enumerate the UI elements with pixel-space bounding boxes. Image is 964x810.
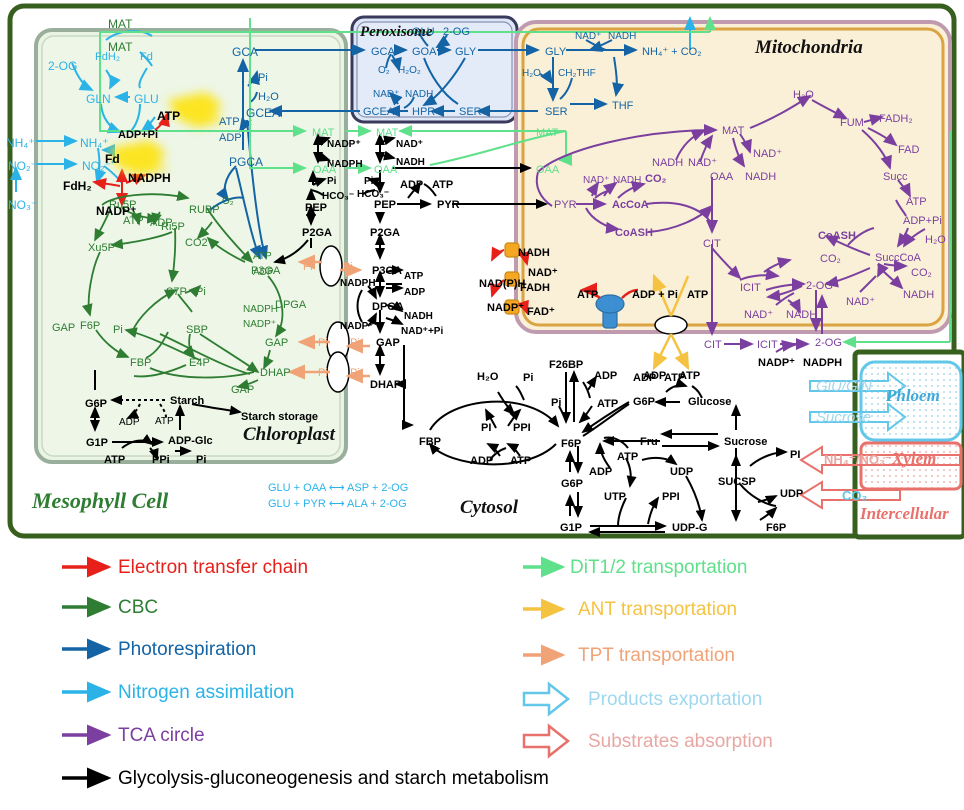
metabolite-mat: MAT: [722, 126, 744, 137]
metabolite-starch-storage: Starch storage: [241, 412, 318, 423]
legend-item-dit1-2-transportation: DiT1/2 transportation: [570, 558, 747, 577]
metabolite-dhap: DHAP: [260, 368, 291, 379]
metabolite-fbp: FBP: [419, 437, 441, 448]
metabolite-coash: CoASH: [615, 228, 653, 239]
metabolite-oaa: OAA: [710, 172, 733, 183]
metabolite-no: NO₃⁻: [8, 199, 37, 211]
metabolite-goa: GOA: [412, 47, 436, 58]
metabolite-ppi: PPI: [662, 492, 680, 503]
metabolite-g1p: G1P: [86, 438, 108, 449]
metabolite-atp: ATP: [104, 455, 125, 466]
metabolite-adp: ADP: [470, 456, 493, 467]
metabolite-atp: ATP: [679, 371, 700, 382]
metabolite-gca: GCA: [232, 46, 258, 58]
phloem-export-glu-gln: GlU/GlN: [816, 379, 872, 394]
metabolite-nh: NH₄⁺: [80, 137, 109, 149]
metabolite-pi: Pi: [196, 455, 206, 466]
metabolite-adp: ADP: [589, 467, 612, 478]
metabolite-udp: UDP: [670, 467, 693, 478]
metabolite-xu5p: Xu5P: [88, 243, 115, 254]
metabolite-pi: PI: [790, 450, 800, 461]
metabolite-p2ga: P2GA: [370, 228, 400, 239]
metabolite-pi: Pi: [113, 325, 123, 336]
metabolite-atp: ATP: [157, 110, 180, 122]
metabolite-gca: GCA: [371, 47, 395, 58]
metabolite-fd: Fd: [105, 153, 120, 165]
metabolite-succcoa: SuccCoA: [875, 253, 921, 264]
metabolite-no: NO₂⁻: [8, 160, 37, 172]
metabolite-utp: UTP: [604, 492, 626, 503]
phloem-export-sucrose: Sucrose: [816, 410, 871, 425]
metabolite-nad: NAD⁺: [373, 90, 399, 100]
metabolite-dpga: DPGA: [372, 302, 404, 313]
metabolite-gap: GAP: [376, 338, 400, 349]
metabolite-g6p: G6P: [85, 399, 107, 410]
metabolite-adp: ADP: [404, 288, 425, 298]
metabolite-atp: ATP: [253, 252, 272, 262]
metabolite-atp: ATP: [404, 272, 423, 282]
metabolite-adp-pi: ADP + Pi: [632, 290, 678, 301]
metabolite-adp: ADP: [119, 418, 140, 428]
metabolite-atp: ATP: [906, 197, 927, 208]
transamination-note-2: GLU + PYR ⟷ ALA + 2-OG: [268, 499, 407, 510]
compartment-label-intercellular: Intercellular: [860, 505, 949, 522]
metabolite-nad-pi: NAD⁺+Pi: [401, 327, 443, 337]
metabolite-mat: MAT: [108, 18, 132, 30]
metabolite-p2ga: P2GA: [302, 228, 332, 239]
metabolite-adp: ADP: [253, 268, 274, 278]
metabolite-gly: GLY: [545, 47, 566, 58]
metabolite-adp: ADP: [643, 371, 666, 382]
metabolite-co2: CO2: [185, 238, 208, 249]
metabolite-gap: GAP: [52, 323, 75, 334]
metabolite-sucsp: SUCSP: [718, 477, 756, 488]
metabolite-nadp: NADP⁺: [327, 140, 361, 150]
metabolite-atp: ATP: [687, 290, 708, 301]
metabolite-ru5p: Ru5P: [109, 200, 137, 211]
intercellular-co2-label: CO₂: [842, 489, 867, 502]
metabolite-h-o: H₂O₂: [398, 66, 421, 76]
metabolite-nad-p-h: NAD(P)H: [479, 279, 525, 290]
metabolite-pi: Pi: [364, 177, 373, 187]
metabolite-pep: PEP: [305, 203, 327, 214]
metabolite-gcea: GCEA: [246, 107, 280, 119]
metabolite-dhap: DHAP: [370, 380, 401, 391]
metabolite-ser: SER: [545, 107, 568, 118]
metabolite-rubp: RUBP: [189, 205, 220, 216]
metabolite-nadh: NADH: [405, 90, 433, 100]
pathway-diagram-stage: Chloroplast Peroxisome Mitochondria Cyto…: [0, 0, 964, 810]
metabolite-adp-pi: ADP+Pi: [903, 216, 942, 227]
metabolite-nadph: NADPH: [243, 305, 278, 315]
metabolite-sucrose: Sucrose: [724, 437, 767, 448]
metabolite-ri5p: Ri5P: [161, 222, 185, 233]
metabolite-f26bp: F26BP: [549, 360, 583, 371]
metabolite-adp: ADP: [219, 133, 242, 144]
metabolite-p3ga: P3GA: [372, 266, 402, 277]
metabolite-atp: ATP: [510, 456, 531, 467]
compartment-label-phloem: Phloem: [886, 387, 940, 404]
metabolite-nadh: NADH: [404, 312, 433, 322]
metabolite-mat: MAT: [108, 41, 132, 53]
metabolite-h-o: H₂O: [522, 69, 541, 79]
metabolite-nad: NAD⁺: [396, 140, 423, 150]
transamination-note-1: GLU + OAA ⟷ ASP + 2-OG: [268, 483, 408, 494]
metabolite-nadh: NADH: [608, 32, 636, 42]
metabolite-oaa: OAA: [536, 165, 559, 176]
metabolite-succ: Succ: [883, 172, 907, 183]
legend-item-cbc: CBC: [118, 598, 158, 617]
metabolite-nad: NAD⁺: [744, 310, 773, 321]
metabolite-nadh: NADH: [396, 158, 425, 168]
metabolite-ppi: PPI: [513, 423, 531, 434]
metabolite-pi: Pi: [551, 398, 561, 409]
metabolite-ch-thf: CH₂THF: [558, 69, 596, 79]
metabolite-nad: NAD⁺: [575, 32, 601, 42]
metabolite-ser: SER: [459, 107, 482, 118]
metabolite-nad: NAD⁺: [753, 149, 782, 160]
legend-item-glycolysis-gluconeogenesis-and-starch-metabolism: Glycolysis-gluconeogenesis and starch me…: [118, 769, 549, 788]
metabolite-nadh: NADH: [652, 158, 683, 169]
metabolite-fd: Fd: [140, 52, 153, 63]
metabolite-pyr: PYR: [437, 200, 460, 211]
metabolite-gap: GAP: [265, 338, 288, 349]
metabolite-accoa: AcCoA: [612, 200, 649, 211]
metabolite-g1p: G1P: [560, 523, 582, 534]
metabolite-nad: NAD⁺: [583, 176, 609, 186]
metabolite-f6p: F6P: [766, 523, 786, 534]
metabolite-2-og: 2-OG: [806, 281, 833, 292]
metabolite-2-og: 2-OG: [48, 60, 77, 72]
compartment-label-mitochondria: Mitochondria: [755, 38, 863, 57]
metabolite-nadp: NADP⁺: [758, 358, 795, 369]
metabolite-2-og: 2-OG: [815, 338, 842, 349]
metabolite-atp: ATP: [617, 452, 638, 463]
legend-item-photorespiration: Photorespiration: [118, 640, 256, 659]
compartment-label-mesophyll: Mesophyll Cell: [32, 490, 168, 512]
metabolite-pi: Pi: [318, 368, 328, 379]
metabolite-nadh: NADH: [745, 172, 776, 183]
legend-item-tca-circle: TCA circle: [118, 726, 205, 745]
metabolite-f6p: F6P: [80, 321, 100, 332]
metabolite-glu: GLU: [412, 27, 435, 38]
metabolite-nadp: NADP⁺: [243, 320, 276, 330]
metabolite-co: CO₂: [645, 174, 666, 185]
metabolite-h-o: H₂O: [925, 235, 946, 246]
metabolite-nadh: NADH: [518, 248, 550, 259]
metabolite-nadph: NADPH: [340, 279, 376, 289]
metabolite-thf: THF: [612, 101, 633, 112]
metabolite-ppi: PPi: [152, 455, 170, 466]
metabolite-fadh: FADH₂: [879, 114, 913, 125]
metabolite-co: CO₂: [820, 254, 841, 265]
metabolite-dpga: DPGA: [275, 300, 306, 311]
metabolite-pep: PEP: [374, 200, 396, 211]
compartment-label-xylem: Xylem: [892, 450, 936, 467]
metabolite-nadph: NADPH: [128, 172, 171, 184]
metabolite-starch: Starch: [170, 396, 204, 407]
metabolite-adp-pi: ADP+Pi: [118, 130, 158, 141]
legend-item-tpt-transportation: TPT transportation: [578, 646, 735, 665]
metabolite-nadh: NADH: [786, 310, 817, 321]
metabolite-o: O₂: [378, 66, 390, 76]
metabolite-nad: NAD⁺: [528, 268, 558, 279]
metabolite-g6p: G6P: [633, 397, 655, 408]
metabolite-2-og: 2-OG: [443, 27, 470, 38]
metabolite-h-o: H₂O: [258, 92, 279, 103]
metabolite-atp: ATP: [219, 117, 240, 128]
metabolite-pi: Pi: [327, 177, 336, 187]
legend-item-electron-transfer-chain: Electron transfer chain: [118, 558, 308, 577]
metabolite-h-o: H₂O: [477, 372, 498, 383]
compartment-label-chloroplast: Chloroplast: [243, 425, 335, 444]
compartment-label-cytosol: Cytosol: [460, 498, 518, 517]
metabolite-atp: ATP: [155, 417, 174, 427]
metabolite-g6p: G6P: [561, 479, 583, 490]
metabolite-nadp: NADP⁺: [487, 303, 524, 314]
metabolite-hco: HCO₃⁻: [322, 192, 354, 202]
metabolite-coash: CoASH: [818, 231, 856, 242]
metabolite-pi: Pi: [258, 73, 268, 84]
metabolite-atp: ATP: [577, 290, 598, 301]
xylem-import-label: NH₄⁺/NO₃⁻: [824, 453, 892, 466]
metabolite-nh: NH₄⁺: [6, 137, 35, 149]
legend-item-nitrogen-assimilation: Nitrogen assimilation: [118, 683, 294, 702]
metabolite-atp: ATP: [123, 216, 144, 227]
metabolite-pi: Pi: [196, 287, 206, 298]
metabolite-pi: Pi: [350, 338, 360, 349]
metabolite-sbp: SBP: [186, 325, 208, 336]
metabolite-atp: ATP: [597, 399, 618, 410]
metabolite-nad: NAD⁺: [688, 158, 717, 169]
metabolite-atp: ATP: [432, 180, 453, 191]
metabolite-mat: MAT: [312, 128, 334, 139]
metabolite-fad: FAD: [898, 145, 919, 156]
legend-item-substrates-absorption: Substrates absorption: [588, 732, 773, 751]
metabolite-mat: MAT: [376, 128, 398, 139]
metabolite-nadph: NADPH: [803, 358, 842, 369]
metabolite-fum: FUM: [840, 118, 864, 129]
metabolite-gcea: GCEA: [363, 107, 394, 118]
metabolite-o: O₂: [222, 197, 234, 207]
metabolite-h-o: H₂O: [793, 90, 814, 101]
metabolite-fadh: FADH: [520, 283, 550, 294]
metabolite-adp-glc: ADP-Glc: [168, 436, 213, 447]
metabolite-pi: Pi: [343, 262, 353, 273]
metabolite-oaa: OAA: [374, 165, 397, 176]
metabolite-fru: Fru: [640, 437, 658, 448]
metabolite-nadh: NADH: [613, 176, 641, 186]
metabolite-adp: ADP: [400, 180, 423, 191]
metabolite-hpr: HPR: [412, 107, 435, 118]
metabolite-pi: Pi: [303, 262, 313, 273]
metabolite-oaa: OAA: [313, 165, 336, 176]
metabolite-pi: Pi: [318, 338, 328, 349]
metabolite-fad: FAD⁺: [527, 307, 555, 318]
metabolite-fdh: FdH₂: [63, 180, 92, 192]
metabolite-gap: GAP: [231, 385, 254, 396]
metabolite-co: CO₂: [911, 268, 932, 279]
metabolite-pgca: PGCA: [229, 156, 263, 168]
metabolite-icit: ICIT: [740, 283, 761, 294]
metabolite-pi: PI: [481, 423, 491, 434]
metabolite-f6p: F6P: [561, 439, 581, 450]
metabolite-glucose: Glucose: [688, 397, 731, 408]
metabolite-nad: NAD⁺: [846, 297, 875, 308]
metabolite-nadh: NADH: [903, 290, 934, 301]
metabolite-gly: GLY: [455, 47, 476, 58]
metabolite-e4p: E4P: [189, 358, 210, 369]
metabolite-gln: GLN: [86, 93, 111, 105]
metabolite-nh-co: NH₄⁺ + CO₂: [642, 47, 702, 58]
metabolite-pi: Pi: [350, 368, 360, 379]
metabolite-nadp: NADP⁺: [340, 322, 374, 332]
metabolite-glu: GLU: [134, 93, 159, 105]
legend-item-products-exportation: Products exportation: [588, 690, 762, 709]
metabolite-cit: CIT: [704, 340, 722, 351]
metabolite-icit: ICIT: [757, 340, 778, 351]
metabolite-cit: CIT: [703, 239, 721, 250]
metabolite-mat: MAT: [536, 128, 558, 139]
metabolite-s7p: S7P: [166, 287, 187, 298]
metabolite-adp: ADP: [594, 371, 617, 382]
metabolite-pi: Pi: [523, 373, 533, 384]
legend-item-ant-transportation: ANT transportation: [578, 600, 737, 619]
metabolite-pyr: PYR: [554, 200, 577, 211]
metabolite-udp: UDP: [780, 489, 803, 500]
metabolite-udp-g: UDP-G: [672, 523, 707, 534]
metabolite-fbp: FBP: [130, 358, 151, 369]
